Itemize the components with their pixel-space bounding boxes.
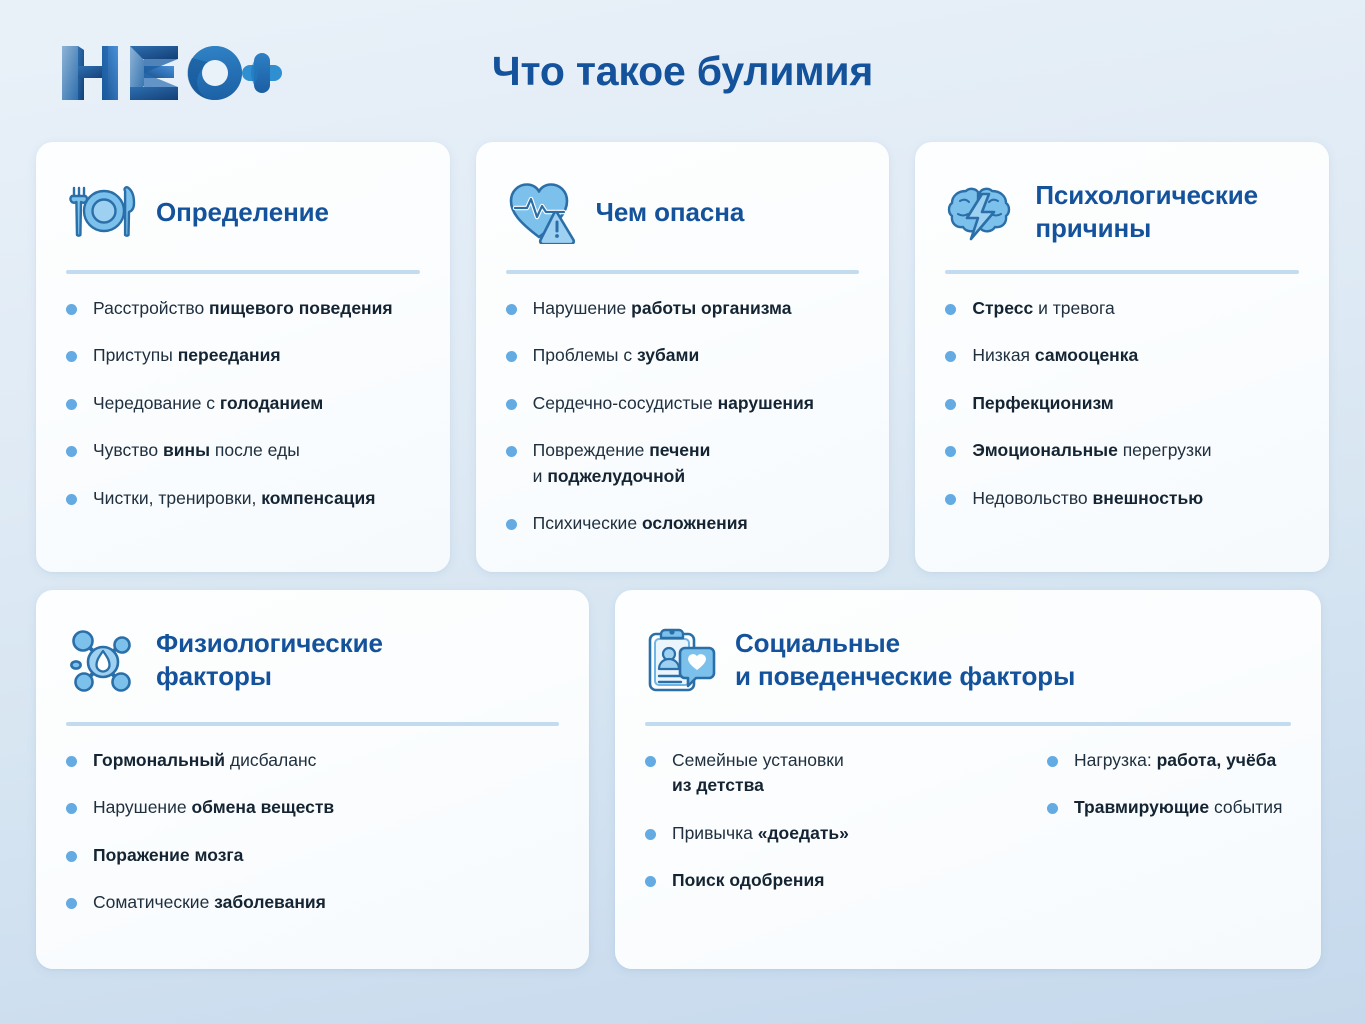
bullet-list: Стресс и тревогаНизкая самооценкаПерфекц…	[945, 282, 1299, 511]
bullet-list: Гормональный дисбалансНарушение обмена в…	[66, 734, 559, 916]
bullet-item: Перфекционизм	[945, 391, 1299, 416]
card-dangers: Чем опасна Нарушение работы организмаПро…	[476, 142, 890, 572]
bullet-item: Семейные установкииз детства	[645, 748, 1017, 799]
bullet-text: Эмоциональные перегрузки	[972, 440, 1211, 460]
cards-row-bottom: Физиологическиефакторы Гормональный дисб…	[0, 572, 1365, 969]
card-divider	[66, 722, 559, 726]
bullet-item: Гормональный дисбаланс	[66, 748, 559, 773]
bullet-text: Перфекционизм	[972, 393, 1113, 413]
card-divider	[945, 270, 1299, 274]
bullet-text: Стресс и тревога	[972, 298, 1114, 318]
bullet-text: Повреждение печении поджелудочной	[533, 440, 711, 485]
bullet-item: Чувство вины после еды	[66, 438, 420, 463]
bullet-list: Расстройство пищевого поведенияПриступы …	[66, 282, 420, 511]
card-title: Физиологическиефакторы	[156, 627, 383, 693]
bullet-text: Чувство вины после еды	[93, 440, 300, 460]
bullet-text: Проблемы с зубами	[533, 345, 700, 365]
bullet-text: Чередование с голоданием	[93, 393, 323, 413]
card-title: Социальныеи поведенческие факторы	[735, 627, 1075, 693]
bullet-text: Нарушение работы организма	[533, 298, 792, 318]
bullet-item: Эмоциональные перегрузки	[945, 438, 1299, 463]
bullet-list: Нарушение работы организмаПроблемы с зуб…	[506, 282, 860, 536]
bullet-dot-icon	[1047, 803, 1058, 814]
cards-grid: Определение Расстройство пищевого поведе…	[0, 142, 1365, 969]
bullet-dot-icon	[66, 851, 77, 862]
card-title: Психологическиепричины	[1035, 179, 1258, 245]
card-header: Социальныеи поведенческие факторы	[645, 624, 1291, 696]
bullet-item: Сердечно-сосудистые нарушения	[506, 391, 860, 416]
bullet-dot-icon	[66, 898, 77, 909]
infographic-page: Что такое булимия	[0, 0, 1365, 1024]
bullet-text: Чистки, тренировки, компенсация	[93, 488, 375, 508]
bullet-dot-icon	[645, 829, 656, 840]
bullet-item: Травмирующие события	[1047, 795, 1347, 820]
bullet-item: Нагрузка: работа, учёба	[1047, 748, 1347, 773]
bullet-dot-icon	[1047, 756, 1058, 767]
bullet-item: Низкая самооценка	[945, 343, 1299, 368]
bullet-dot-icon	[506, 519, 517, 530]
card-definition: Определение Расстройство пищевого поведе…	[36, 142, 450, 572]
bullet-item: Стресс и тревога	[945, 296, 1299, 321]
page-header: Что такое булимия	[0, 0, 1365, 140]
bullet-item: Психические осложнения	[506, 511, 860, 536]
bullet-item: Недовольство внешностью	[945, 486, 1299, 511]
bullet-text: Травмирующие события	[1074, 797, 1283, 817]
bullet-item: Поражение мозга	[66, 843, 559, 868]
bullet-text: Приступы переедания	[93, 345, 281, 365]
clipboard-person-heart-icon	[645, 624, 717, 696]
bullet-dot-icon	[945, 304, 956, 315]
card-divider	[645, 722, 1291, 726]
bullet-dot-icon	[506, 351, 517, 362]
card-divider	[66, 270, 420, 274]
bullet-item: Проблемы с зубами	[506, 343, 860, 368]
card-title: Чем опасна	[596, 196, 745, 229]
bullet-dot-icon	[506, 304, 517, 315]
molecule-hormone-icon	[66, 624, 138, 696]
bullet-text: Поиск одобрения	[672, 870, 824, 890]
bullet-text: Нагрузка: работа, учёба	[1074, 750, 1276, 770]
bullet-item: Чередование с голоданием	[66, 391, 420, 416]
bullet-dot-icon	[506, 446, 517, 457]
bullet-dot-icon	[66, 494, 77, 505]
bullet-dot-icon	[66, 756, 77, 767]
bullet-dot-icon	[645, 876, 656, 887]
bullet-text: Недовольство внешностью	[972, 488, 1203, 508]
plate-fork-knife-icon	[66, 176, 138, 248]
bullet-text: Нарушение обмена веществ	[93, 797, 334, 817]
bullet-item: Нарушение обмена веществ	[66, 795, 559, 820]
card-title: Определение	[156, 196, 329, 229]
bullet-dot-icon	[506, 399, 517, 410]
cards-row-top: Определение Расстройство пищевого поведе…	[0, 142, 1365, 572]
page-title: Что такое булимия	[0, 48, 1365, 95]
bullet-text: Расстройство пищевого поведения	[93, 298, 393, 318]
bullet-dot-icon	[66, 446, 77, 457]
card-divider	[506, 270, 860, 274]
bullet-text: Психические осложнения	[533, 513, 748, 533]
bullet-dot-icon	[945, 446, 956, 457]
bullet-text: Сердечно-сосудистые нарушения	[533, 393, 814, 413]
bullet-item: Расстройство пищевого поведения	[66, 296, 420, 321]
bullet-item: Чистки, тренировки, компенсация	[66, 486, 420, 511]
bullet-text: Гормональный дисбаланс	[93, 750, 316, 770]
card-header: Чем опасна	[506, 176, 860, 248]
bullet-dot-icon	[66, 351, 77, 362]
card-header: Психологическиепричины	[945, 176, 1299, 248]
bullet-text: Семейные установкииз детства	[672, 750, 844, 795]
bullet-text: Низкая самооценка	[972, 345, 1138, 365]
card-psychological-causes: Психологическиепричины Стресс и тревогаН…	[915, 142, 1329, 572]
card-social-behavioral-factors: Социальныеи поведенческие факторы Семейн…	[615, 590, 1321, 969]
bullet-list-right: Нагрузка: работа, учёбаТравмирующие собы…	[1047, 734, 1347, 894]
bullet-dot-icon	[645, 756, 656, 767]
bullet-dot-icon	[66, 304, 77, 315]
card-header: Определение	[66, 176, 420, 248]
bullet-list-left: Семейные установкииз детстваПривычка «до…	[645, 734, 1017, 894]
bullet-item: Привычка «доедать»	[645, 821, 1017, 846]
card-header: Физиологическиефакторы	[66, 624, 559, 696]
bullet-dot-icon	[945, 351, 956, 362]
bullet-dot-icon	[66, 399, 77, 410]
bullet-text: Привычка «доедать»	[672, 823, 849, 843]
bullet-item: Повреждение печении поджелудочной	[506, 438, 860, 489]
bullet-item: Приступы переедания	[66, 343, 420, 368]
heart-pulse-warning-icon	[506, 176, 578, 248]
bullet-dot-icon	[945, 494, 956, 505]
bullet-text: Соматические заболевания	[93, 892, 326, 912]
card-physiological-factors: Физиологическиефакторы Гормональный дисб…	[36, 590, 589, 969]
bullet-item: Соматические заболевания	[66, 890, 559, 915]
bullet-dot-icon	[945, 399, 956, 410]
bullet-item: Поиск одобрения	[645, 868, 1017, 893]
bullet-item: Нарушение работы организма	[506, 296, 860, 321]
brain-lightning-icon	[945, 176, 1017, 248]
bullet-columns: Семейные установкииз детстваПривычка «до…	[645, 734, 1291, 894]
bullet-dot-icon	[66, 803, 77, 814]
bullet-text: Поражение мозга	[93, 845, 243, 865]
